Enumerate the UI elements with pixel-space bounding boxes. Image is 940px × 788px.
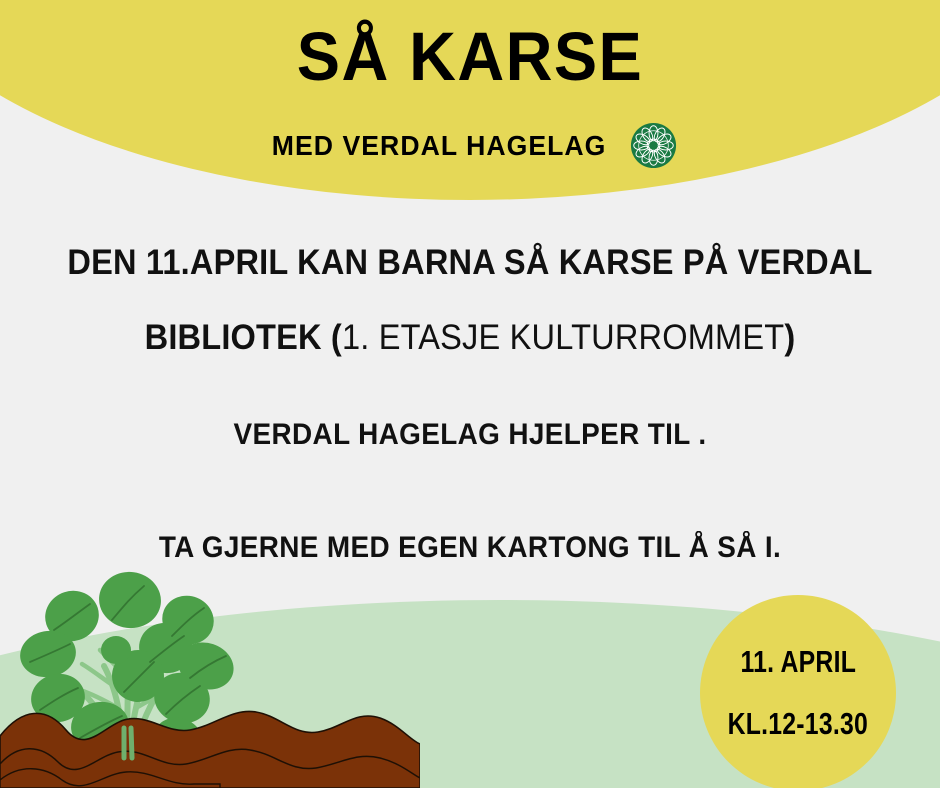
subtitle-row: MED VERDAL HAGELAG xyxy=(0,122,940,169)
page-title: SÅ KARSE xyxy=(28,22,912,91)
body-line-4: TA GJERNE MED EGEN KARTONG TIL Å SÅ I. xyxy=(33,531,907,565)
poster-canvas: SÅ KARSE MED VERDAL HAGELAG xyxy=(0,0,940,788)
logo-svg xyxy=(630,122,677,169)
badge-date-text: 11. APRIL xyxy=(740,644,856,680)
body-line-3: VERDAL HAGELAG HJELPER TIL . xyxy=(33,418,907,452)
body-line-2: BIBLIOTEK (1. ETASJE KULTURROMMET) xyxy=(33,318,907,358)
body-line-1: DEN 11.APRIL KAN BARNA SÅ KARSE PÅ VERDA… xyxy=(33,243,907,283)
badge-time-text: KL.12-13.30 xyxy=(728,706,869,742)
verdal-hagelag-logo-icon xyxy=(630,122,677,169)
cress-seedling-illustration xyxy=(0,558,420,788)
body-line-2-bold-start: BIBLIOTEK ( xyxy=(145,318,342,357)
subtitle-text: MED VERDAL HAGELAG xyxy=(272,130,607,162)
body-line-2-light: 1. ETASJE KULTURROMMET xyxy=(342,318,784,357)
date-badge: 11. APRIL KL.12-13.30 xyxy=(700,595,896,788)
soil-mounds xyxy=(0,711,420,788)
body-line-2-bold-end: ) xyxy=(784,318,795,357)
